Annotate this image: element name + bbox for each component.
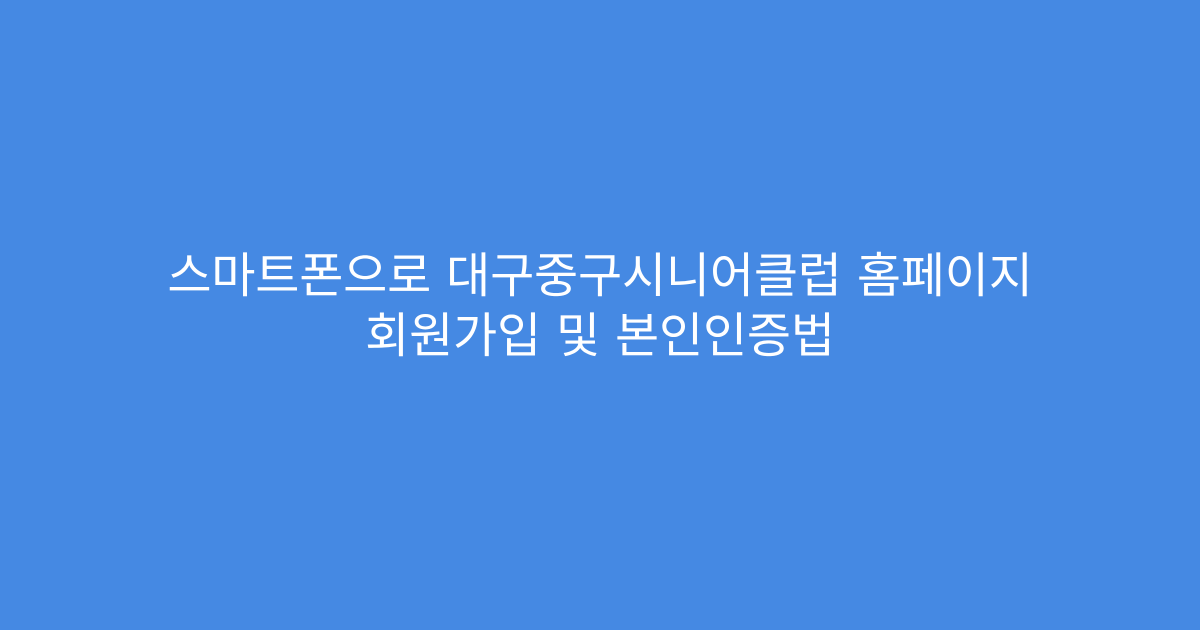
page-title: 스마트폰으로 대구중구시니어클럽 홈페이지 회원가입 및 본인인증법: [70, 246, 1130, 366]
share-card: 스마트폰으로 대구중구시니어클럽 홈페이지 회원가입 및 본인인증법: [0, 0, 1200, 630]
page-title-line-1: 스마트폰으로 대구중구시니어클럽 홈페이지: [70, 246, 1130, 306]
page-title-line-2: 회원가입 및 본인인증법: [70, 306, 1130, 366]
